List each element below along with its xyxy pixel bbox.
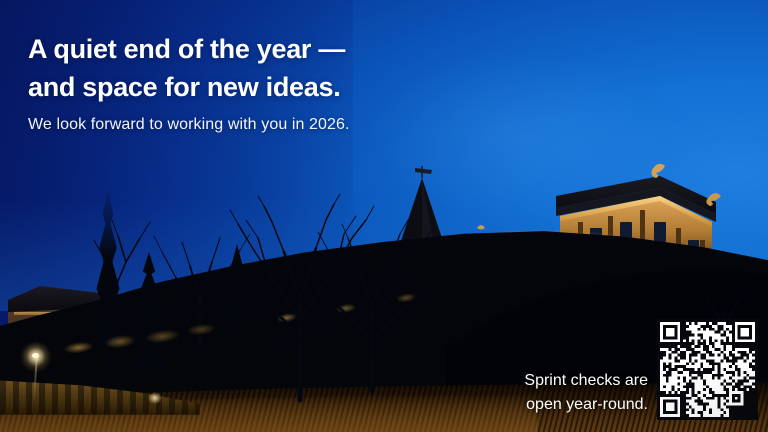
caption-line-2: open year-round. <box>524 393 648 417</box>
headline-line-1: A quiet end of the year — <box>28 30 345 68</box>
caption-block: Sprint checks are open year-round. <box>524 369 648 417</box>
qr-code-matrix[interactable] <box>660 322 755 417</box>
bare-tree-2 <box>318 220 432 392</box>
qr-code[interactable] <box>657 319 758 420</box>
promo-banner: A quiet end of the year — and space for … <box>0 0 768 432</box>
street-lamp-bulb <box>32 353 39 358</box>
caption-line-1: Sprint checks are <box>524 369 648 393</box>
page-title: A quiet end of the year — and space for … <box>28 30 345 106</box>
subheadline: We look forward to working with you in 2… <box>28 116 350 134</box>
bare-tree-1 <box>230 194 374 400</box>
headline-line-2: and space for new ideas. <box>28 68 345 106</box>
secondary-lamp-glow <box>148 392 162 404</box>
